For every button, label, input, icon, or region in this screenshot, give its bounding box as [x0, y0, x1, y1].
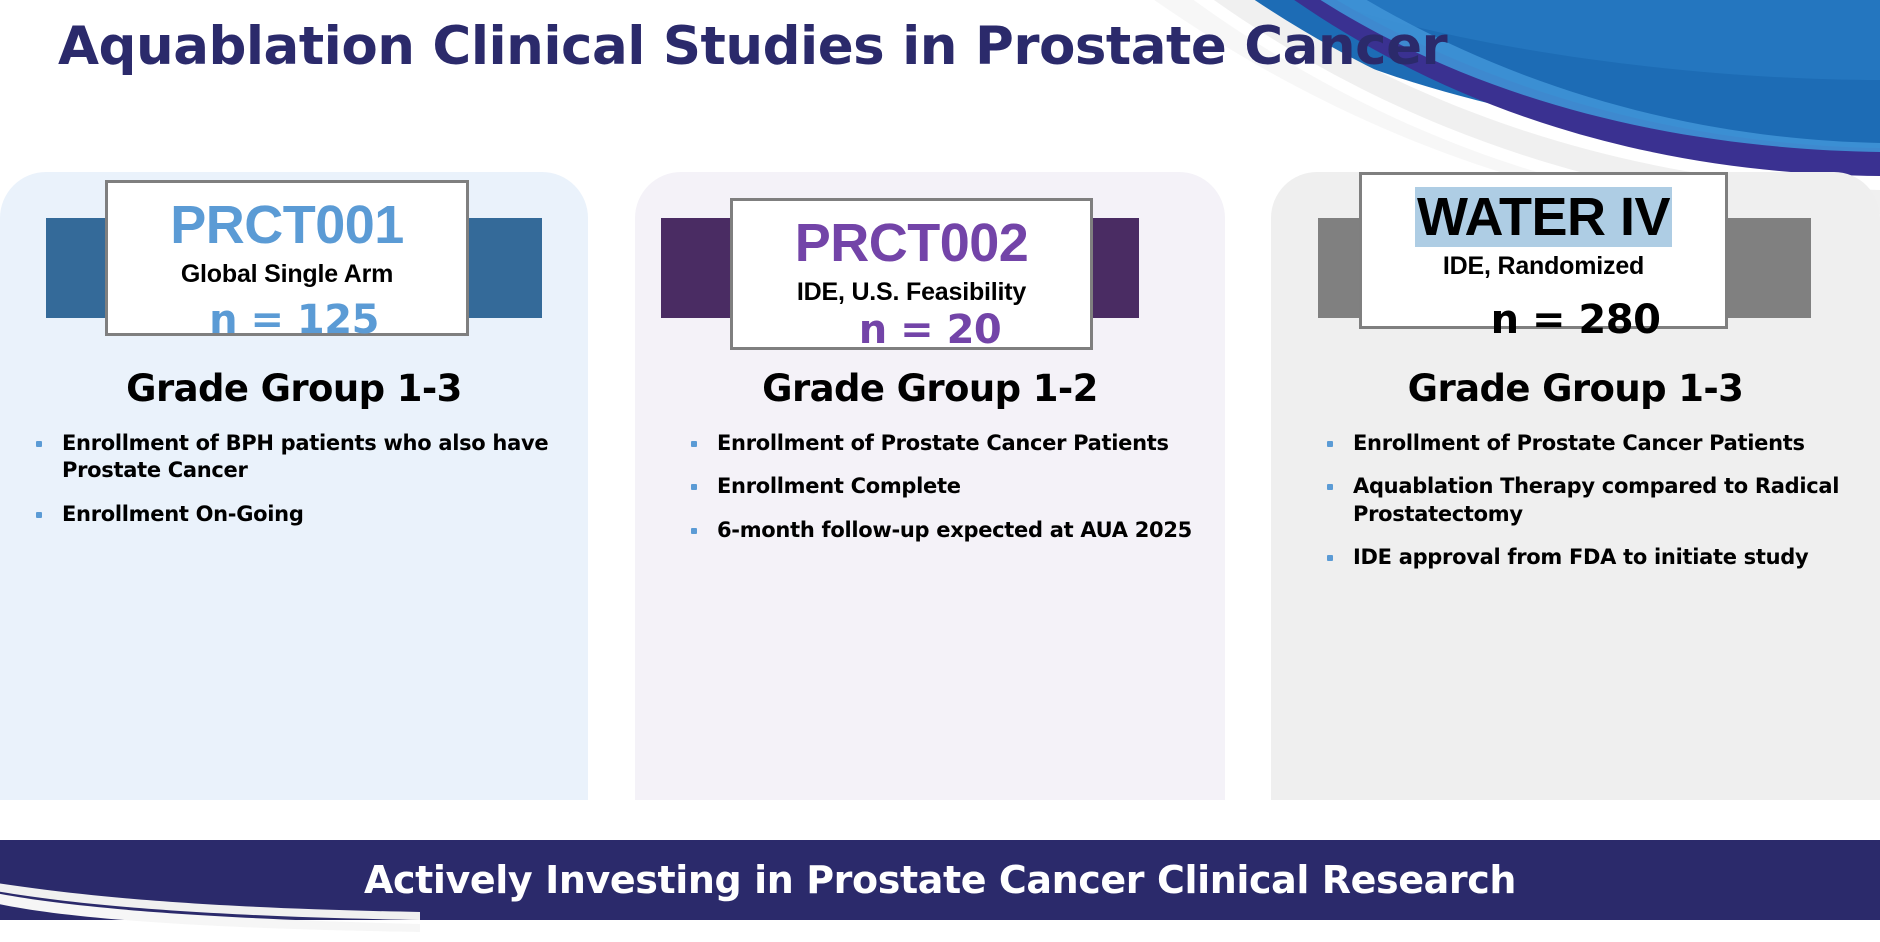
study-subtitle-label: IDE, Randomized	[1362, 252, 1725, 281]
list-item: Enrollment of Prostate Cancer Patients	[1309, 430, 1850, 457]
study-code-label: PRCT001	[108, 197, 466, 254]
study-grade-group-label: Grade Group 1-2	[635, 367, 1225, 410]
study-card-prct002[interactable]: PRCT002 IDE, U.S. Feasibility n = 20 Gra…	[635, 172, 1225, 800]
list-item: Enrollment of Prostate Cancer Patients	[673, 430, 1195, 457]
study-card-prct001[interactable]: PRCT001 Global Single Arm n = 125 Grade …	[0, 172, 588, 800]
list-item: Enrollment Complete	[673, 473, 1195, 500]
list-item: Aquablation Therapy compared to Radical …	[1309, 473, 1850, 528]
study-subtitle-label: IDE, U.S. Feasibility	[733, 278, 1090, 307]
page-title: Aquablation Clinical Studies in Prostate…	[58, 16, 1447, 77]
list-item: 6-month follow-up expected at AUA 2025	[673, 517, 1195, 544]
study-n-label: n = 125	[0, 297, 588, 343]
study-grade-group-label: Grade Group 1-3	[0, 367, 588, 410]
bottom-banner: Actively Investing in Prostate Cancer Cl…	[0, 840, 1880, 920]
study-n-label: n = 280	[1271, 297, 1880, 343]
study-grade-group-label: Grade Group 1-3	[1271, 367, 1880, 410]
studies-card-row: PRCT001 Global Single Arm n = 125 Grade …	[0, 172, 1880, 800]
study-code-label: WATER IV	[1362, 189, 1725, 246]
list-item: Enrollment of BPH patients who also have…	[18, 430, 558, 485]
list-item: Enrollment On-Going	[18, 501, 558, 528]
bottom-banner-text: Actively Investing in Prostate Cancer Cl…	[364, 858, 1516, 902]
study-bullet-list: Enrollment of Prostate Cancer Patients E…	[635, 430, 1225, 560]
study-code-label: PRCT002	[733, 215, 1090, 272]
study-bullet-list: Enrollment of BPH patients who also have…	[0, 430, 588, 544]
study-n-label: n = 20	[635, 307, 1225, 353]
slide-root: Aquablation Clinical Studies in Prostate…	[0, 0, 1880, 942]
study-code-highlight: WATER IV	[1415, 187, 1672, 247]
study-card-water-iv[interactable]: WATER IV IDE, Randomized n = 280 Grade G…	[1271, 172, 1880, 800]
list-item: IDE approval from FDA to initiate study	[1309, 544, 1850, 571]
study-bullet-list: Enrollment of Prostate Cancer Patients A…	[1271, 430, 1880, 587]
study-subtitle-label: Global Single Arm	[108, 260, 466, 289]
